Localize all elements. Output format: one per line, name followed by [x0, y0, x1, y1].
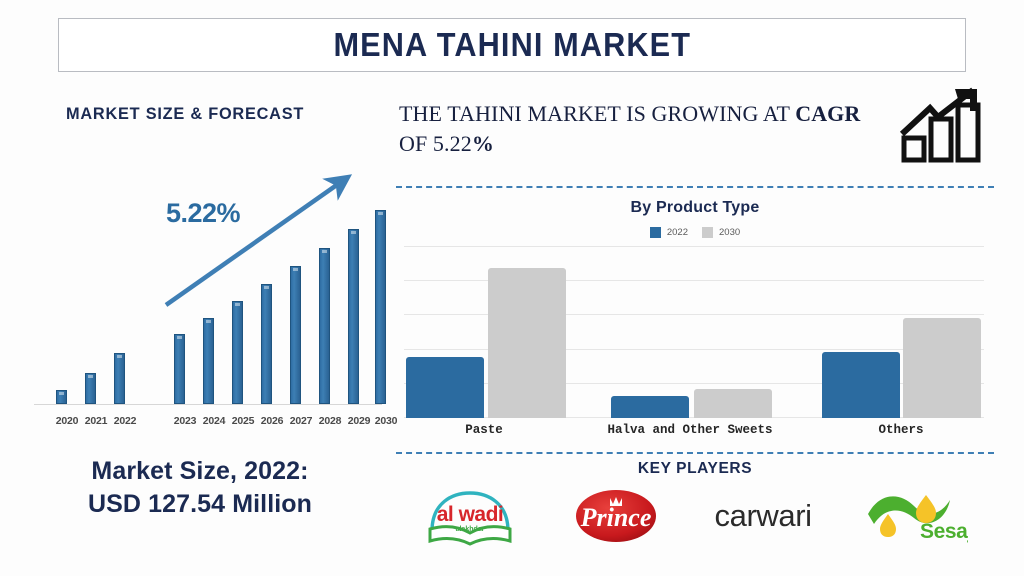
- category-label-others: Others: [822, 423, 980, 437]
- svg-text:Sesajal: Sesajal: [920, 520, 968, 543]
- legend-item-2022[interactable]: 2022: [650, 227, 688, 238]
- x-label-2027: 2027: [286, 415, 316, 427]
- gridline-0: [404, 246, 984, 247]
- x-label-2026: 2026: [257, 415, 287, 427]
- bar-2022: [114, 353, 125, 404]
- carwari-logo: carwari: [715, 482, 812, 550]
- x-label-2021: 2021: [81, 415, 111, 427]
- x-label-2024: 2024: [199, 415, 229, 427]
- bar-2030-paste: [488, 268, 566, 418]
- category-label-halva-and-other-sweets: Halva and Other Sweets: [565, 423, 815, 437]
- key-players-row: al wadi alakhdar Prince carwari: [396, 480, 994, 552]
- growth-cagr-word: CAGR: [795, 101, 860, 126]
- x-label-2020: 2020: [52, 415, 82, 427]
- legend-label-2030: 2030: [719, 227, 740, 238]
- x-label-2022: 2022: [110, 415, 140, 427]
- growth-statement: THE TAHINI MARKET IS GROWING AT CAGR OF …: [399, 99, 869, 159]
- growth-bar-chart-arrow-icon: [898, 86, 988, 169]
- bar-2022-others: [822, 352, 900, 418]
- bar-2021: [85, 373, 96, 404]
- market-size-value: Market Size, 2022: USD 127.54 Million: [0, 455, 400, 521]
- divider-top: [396, 186, 994, 188]
- legend-swatch-2030: [702, 227, 713, 238]
- x-label-2025: 2025: [228, 415, 258, 427]
- sesajal-logo: Sesajal: [864, 482, 968, 550]
- svg-text:Prince: Prince: [580, 503, 652, 532]
- infographic-page: MENA TAHINI MARKET MARKET SIZE & FORECAS…: [0, 0, 1024, 576]
- bar-2023: [174, 334, 185, 404]
- bar-2030-halva-and-other-sweets: [694, 389, 772, 418]
- bar-2029: [348, 229, 359, 404]
- by-product-type-title: By Product Type: [396, 199, 994, 217]
- bar-2030: [375, 210, 386, 404]
- al-wadi-alakhdar-logo: al wadi alakhdar: [422, 482, 518, 550]
- legend-item-2030[interactable]: 2030: [702, 227, 740, 238]
- x-label-2023: 2023: [170, 415, 200, 427]
- growth-percent-sign: %: [472, 131, 494, 156]
- legend-swatch-2022: [650, 227, 661, 238]
- bar-2022-halva-and-other-sweets: [611, 396, 689, 418]
- carwari-wordmark: carwari: [715, 498, 812, 534]
- prince-logo: Prince: [570, 482, 662, 550]
- bar-2022-paste: [406, 357, 484, 418]
- page-title-box: MENA TAHINI MARKET: [58, 18, 966, 72]
- legend-label-2022: 2022: [667, 227, 688, 238]
- cagr-annotation: 5.22%: [166, 198, 240, 229]
- divider-bottom: [396, 452, 994, 454]
- market-size-forecast-heading: MARKET SIZE & FORECAST: [66, 104, 304, 124]
- market-size-amount: USD 127.54 Million: [88, 490, 312, 518]
- page-title: MENA TAHINI MARKET: [333, 26, 691, 64]
- svg-text:al wadi: al wadi: [437, 503, 504, 526]
- bar-2024: [203, 318, 214, 404]
- bar-2027: [290, 266, 301, 404]
- bar-2030-others: [903, 318, 981, 418]
- x-label-2028: 2028: [315, 415, 345, 427]
- x-label-2029: 2029: [344, 415, 374, 427]
- market-size-forecast-chart: 2020202120222023202420252026202720282029…: [18, 160, 388, 445]
- svg-text:alakhdar: alakhdar: [456, 526, 485, 533]
- bar-2026: [261, 284, 272, 404]
- by-product-type-plot: [404, 246, 984, 418]
- market-size-label: Market Size, 2022:: [91, 457, 308, 485]
- x-label-2030: 2030: [371, 415, 401, 427]
- bar-2028: [319, 248, 330, 404]
- growth-mid: OF 5.22: [399, 131, 472, 156]
- key-players-title: KEY PLAYERS: [396, 460, 994, 478]
- bar-2020: [56, 390, 67, 404]
- category-label-paste: Paste: [404, 423, 564, 437]
- growth-prefix: THE TAHINI MARKET IS GROWING AT: [399, 101, 795, 126]
- chart-legend: 20222030: [396, 227, 994, 238]
- bar-2025: [232, 301, 243, 404]
- chart-baseline: [34, 404, 382, 405]
